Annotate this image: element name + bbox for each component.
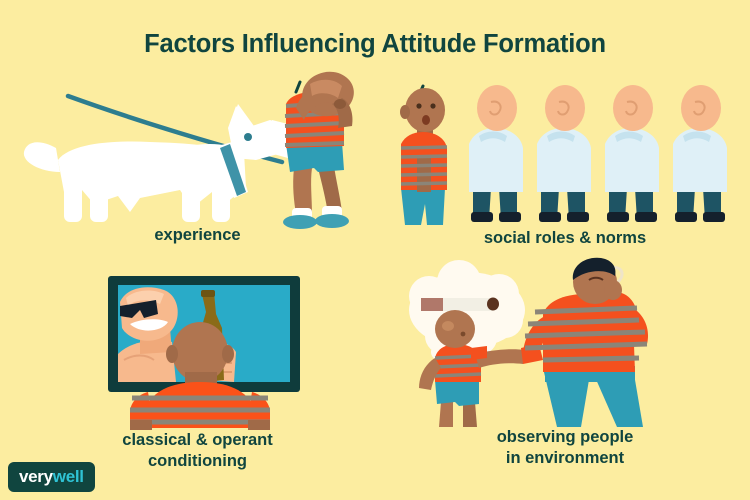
verywell-logo[interactable]: verywell — [8, 462, 95, 492]
conditioning-illustration — [20, 268, 375, 428]
conforming-crowd-illustration — [469, 85, 727, 222]
social-roles-illustration — [395, 80, 735, 225]
crowd-person — [605, 85, 659, 222]
infographic-canvas: Factors Influencing Attitude Formation — [0, 0, 750, 500]
observing-illustration — [395, 262, 735, 427]
panel-observing: observing people in environment — [395, 262, 735, 477]
caption-observing-line2: in environment — [395, 448, 735, 469]
dog-illustration — [24, 104, 304, 222]
experience-illustration — [20, 80, 375, 225]
nonconforming-person-illustration — [400, 88, 447, 225]
frightened-person-illustration — [283, 67, 358, 229]
caption-conditioning-line1: classical & operant — [20, 430, 375, 451]
caption-observing: observing people in environment — [395, 427, 735, 469]
panel-experience: experience — [20, 80, 375, 255]
caption-experience: experience — [20, 225, 375, 246]
crowd-person — [673, 85, 727, 222]
crowd-person — [537, 85, 591, 222]
panel-conditioning: classical & operant conditioning — [20, 268, 375, 478]
smoking-adult-illustration — [521, 258, 648, 427]
caption-social: social roles & norms — [395, 228, 735, 249]
panel-social: social roles & norms — [395, 80, 735, 258]
caption-observing-line1: observing people — [395, 427, 735, 448]
crowd-person — [469, 85, 523, 222]
logo-prefix: very — [19, 467, 53, 486]
cigarette-icon — [421, 298, 499, 312]
page-title: Factors Influencing Attitude Formation — [0, 30, 750, 59]
logo-suffix: well — [53, 467, 84, 486]
